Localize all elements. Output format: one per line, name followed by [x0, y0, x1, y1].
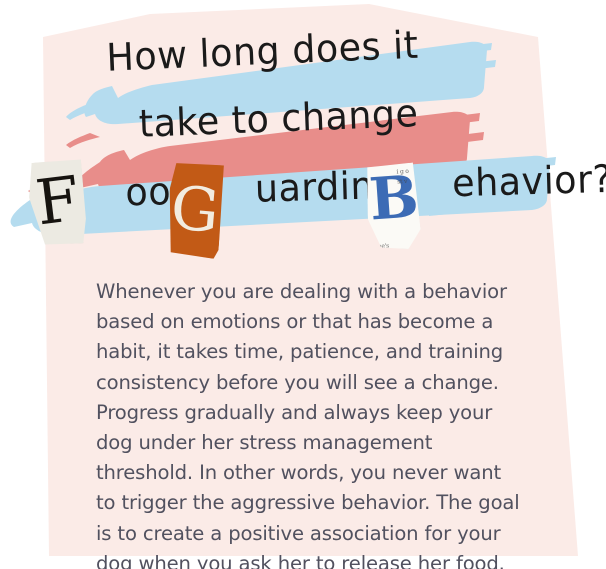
newsprint-fragment-column: i g o st v	[396, 166, 415, 186]
body-paragraph: Whenever you are dealing with a behavior…	[96, 277, 526, 569]
ransom-letter-g-glyph: G	[169, 178, 222, 242]
ransom-letter-g-scrap: G	[164, 161, 226, 259]
brush-stroke-blue-top	[66, 42, 496, 124]
ransom-letter-f-glyph: F	[33, 168, 83, 235]
poster-canvas: F G B i g o st v he's How long does it t…	[0, 0, 606, 569]
